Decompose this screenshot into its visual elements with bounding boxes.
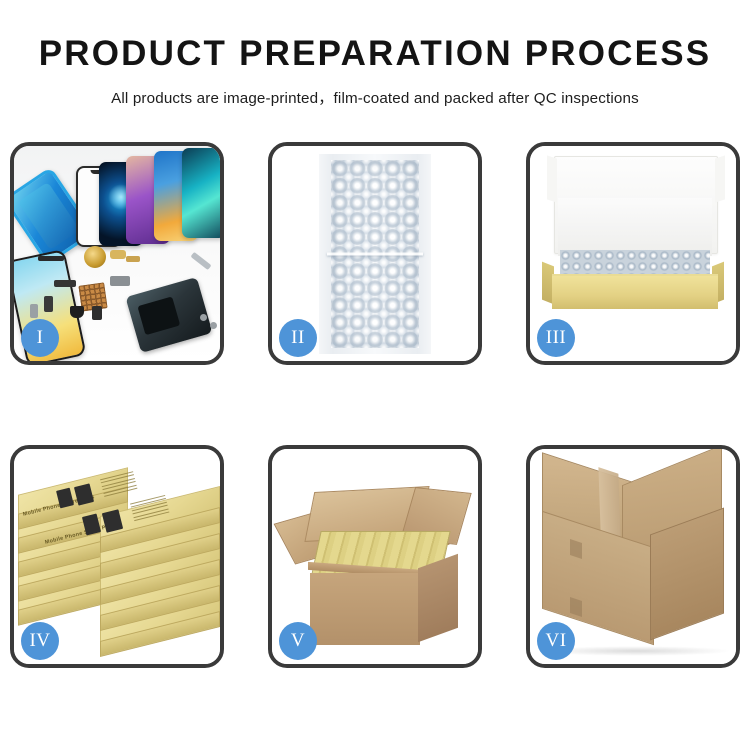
- infographic-page: PRODUCT PREPARATION PROCESS All products…: [0, 0, 750, 750]
- step-panel-6[interactable]: VI: [526, 445, 740, 668]
- mailer-box-foam-liner: [558, 198, 712, 256]
- sim-tray-part: [30, 304, 38, 318]
- step-badge-1: I: [21, 319, 59, 357]
- step-badge-6: VI: [537, 622, 575, 660]
- step-panel-4[interactable]: Mobile Phone Spare Parts Mobile Phone Sp…: [10, 445, 224, 668]
- carton-side-panel: [418, 554, 458, 643]
- speaker-module-part: [38, 256, 64, 261]
- wireless-charging-coil-part: [84, 246, 106, 268]
- carton-front-panel: [310, 573, 420, 645]
- taptic-engine-part: [70, 306, 84, 318]
- process-grid: I II: [10, 142, 740, 668]
- bubble-wrap-seam: [327, 252, 423, 255]
- page-subtitle: All products are image-printed，film-coat…: [0, 73, 750, 108]
- carton-seam-lower: [570, 597, 582, 617]
- flex-cable-part-b: [126, 256, 140, 262]
- step-panel-3[interactable]: III: [526, 142, 740, 365]
- phone-teal-wallpaper: [182, 148, 220, 238]
- step-panel-5[interactable]: V: [268, 445, 482, 668]
- camera-module-part: [44, 296, 53, 312]
- step-panel-2[interactable]: II: [268, 142, 482, 365]
- step-badge-4: IV: [21, 622, 59, 660]
- bracket-part: [110, 276, 130, 286]
- mailer-box-front-panel: [552, 276, 718, 309]
- step-panel-1[interactable]: I: [10, 142, 224, 365]
- flex-cable-part-a: [110, 250, 126, 259]
- header: PRODUCT PREPARATION PROCESS All products…: [0, 0, 750, 108]
- connector-part: [54, 280, 76, 287]
- step-badge-5: V: [279, 622, 317, 660]
- screw-part-b: [210, 322, 217, 329]
- tweezers-tool: [190, 252, 211, 270]
- screw-part-a: [200, 314, 207, 321]
- carton-seam-upper: [570, 539, 582, 559]
- process-row-top: I II: [10, 142, 740, 365]
- page-title: PRODUCT PREPARATION PROCESS: [0, 0, 750, 73]
- step-badge-3: III: [537, 319, 575, 357]
- process-row-bottom: Mobile Phone Spare Parts Mobile Phone Sp…: [10, 445, 740, 668]
- button-part: [92, 306, 102, 320]
- step-badge-2: II: [279, 319, 317, 357]
